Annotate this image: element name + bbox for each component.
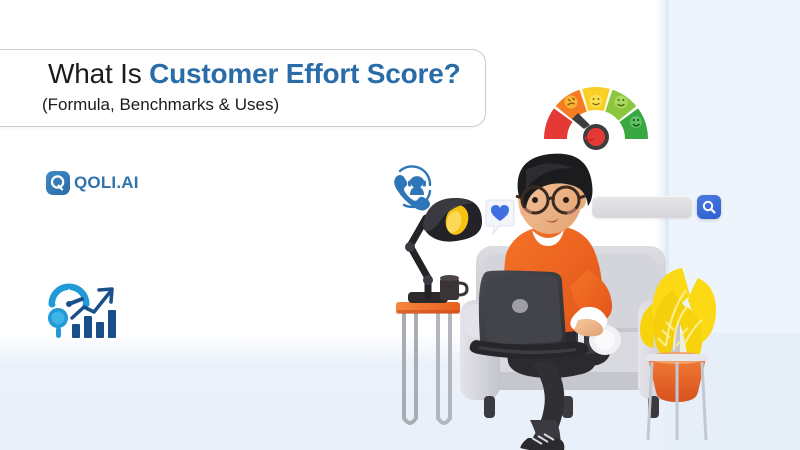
page-title: What Is Customer Effort Score? xyxy=(48,58,461,90)
search-bar[interactable] xyxy=(592,195,721,219)
brand-logo[interactable]: QOLI.AI xyxy=(46,171,139,195)
satisfaction-gauge-icon xyxy=(537,79,655,151)
page-title-plain: What Is xyxy=(48,58,149,89)
analytics-gauge-bar-chart-icon xyxy=(42,280,120,342)
page-subtitle: (Formula, Benchmarks & Uses) xyxy=(42,95,279,115)
gauge-segment-neutral xyxy=(582,87,610,111)
page-title-highlight: Customer Effort Score? xyxy=(149,58,460,89)
search-button[interactable] xyxy=(697,195,721,219)
title-card: What Is Customer Effort Score? (Formula,… xyxy=(0,49,486,127)
qoli-logo-icon xyxy=(46,171,70,195)
search-input[interactable] xyxy=(592,196,692,218)
screenshot-stage: What Is Customer Effort Score? (Formula,… xyxy=(0,0,800,450)
coffee-cup xyxy=(440,275,467,300)
brand-name: QOLI.AI xyxy=(74,173,139,193)
customer-support-phone-icon xyxy=(388,163,436,211)
heart-reaction-bubble-icon xyxy=(481,199,519,239)
side-table xyxy=(396,302,460,423)
search-icon xyxy=(702,200,716,214)
head xyxy=(516,154,593,234)
